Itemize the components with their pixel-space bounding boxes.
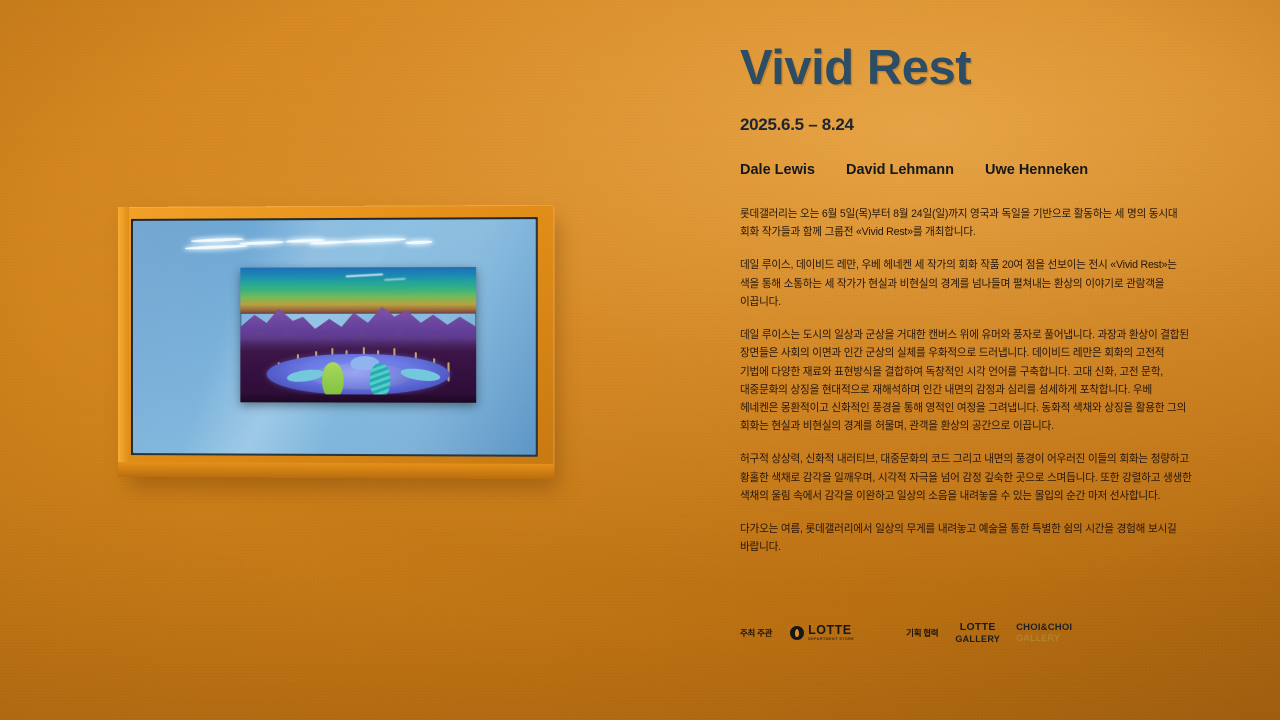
page-title: Vivid Rest: [740, 44, 1192, 93]
choi-and-choi-gallery-logo: CHOI&CHOI GALLERY: [1016, 623, 1072, 644]
description-paragraph: 롯데갤러리는 오는 6월 5일(목)부터 8월 24일(일)까지 영국과 독일을…: [740, 205, 1192, 241]
painting-canvas: [240, 267, 476, 403]
lotte-gallery-logo: LOTTE GALLERY: [955, 622, 1000, 644]
sponsor-credits: 주최 주관 LOTTE DEPARTMENT STORE 기획 협력 LOTTE…: [740, 622, 1072, 644]
lotte-subtext: DEPARTMENT STORE: [808, 638, 854, 642]
artist-name: David Lehmann: [846, 162, 954, 178]
painting-creature-green: [322, 362, 343, 397]
painting-bottom-edge: [240, 394, 476, 403]
choi-gallery-line1: CHOI&CHOI: [1016, 623, 1072, 634]
framed-artwork[interactable]: [118, 207, 548, 477]
painting-creature-striped: [370, 363, 391, 397]
artist-list: Dale Lewis David Lehmann Uwe Henneken: [740, 162, 1192, 178]
frame-bevel-bottom: [118, 462, 554, 479]
exhibition-dates: 2025.6.5 – 8.24: [740, 115, 1192, 135]
description-paragraph: 다가오는 여름, 롯데갤러리에서 일상의 무게를 내려놓고 예술을 통한 특별한…: [740, 520, 1192, 556]
lotte-emblem-icon: [790, 626, 804, 640]
artist-name: Dale Lewis: [740, 162, 815, 178]
lotte-gallery-line2: GALLERY: [955, 634, 1000, 644]
lotte-department-store-logo: LOTTE DEPARTMENT STORE: [790, 624, 854, 642]
choi-gallery-line2: GALLERY: [1016, 633, 1072, 643]
exhibition-text-panel: Vivid Rest 2025.6.5 – 8.24 Dale Lewis Da…: [740, 44, 1192, 557]
exhibition-description: 롯데갤러리는 오는 6월 5일(목)부터 8월 24일(일)까지 영국과 독일을…: [740, 205, 1192, 557]
artwork-glass: [133, 219, 536, 455]
lotte-wordmark: LOTTE: [808, 624, 854, 637]
picture-frame: [118, 205, 554, 479]
lotte-gallery-line1: LOTTE: [955, 622, 1000, 634]
planning-label: 기획 협력: [906, 627, 938, 639]
description-paragraph: 데일 루이스, 데이비드 레만, 우베 헤네켄 세 작가의 회화 작품 20여 …: [740, 256, 1192, 311]
organizer-label: 주최 주관: [740, 627, 772, 639]
frame-bevel-left: [118, 207, 129, 477]
description-paragraph: 데일 루이스는 도시의 일상과 군상을 거대한 캔버스 위에 유머와 풍자로 풀…: [740, 326, 1192, 435]
artist-name: Uwe Henneken: [985, 162, 1088, 178]
description-paragraph: 허구적 상상력, 신화적 내러티브, 대중문화의 코드 그리고 내면의 풍경이 …: [740, 450, 1192, 505]
